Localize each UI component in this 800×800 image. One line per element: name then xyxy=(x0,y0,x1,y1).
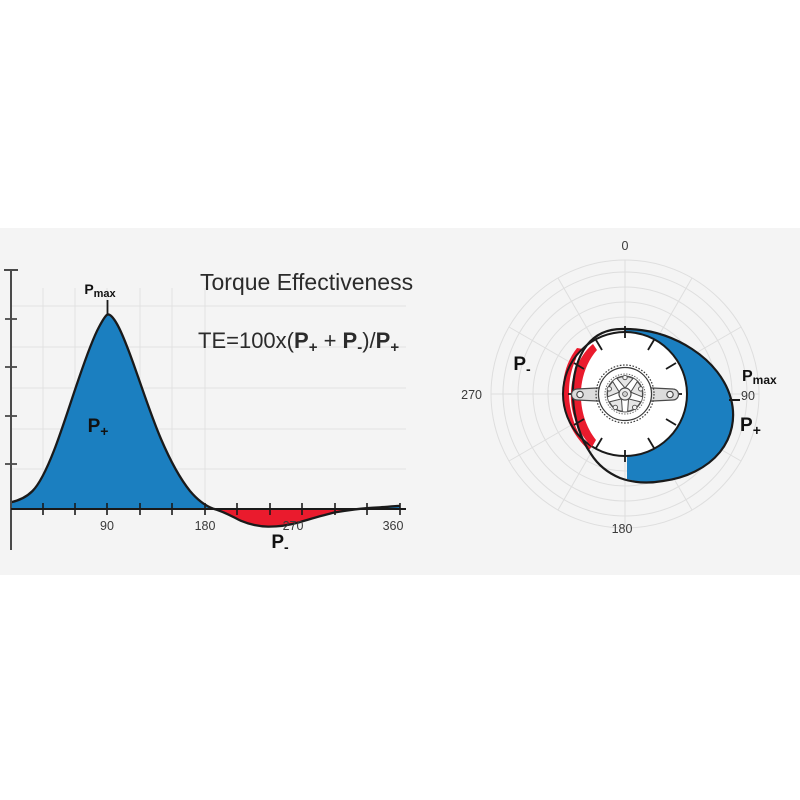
polar-tick-label-90: 90 xyxy=(741,389,755,403)
pmax-label-sub: max xyxy=(94,288,117,300)
x-tick-label-180: 180 xyxy=(195,519,216,533)
polar-negative-label: P- xyxy=(513,354,531,377)
figure-root: 90 180 270 360 Pmax P+ P- Torque Ef xyxy=(0,0,800,800)
negative-region-label-main: P xyxy=(271,532,284,553)
pmax-label-main: P xyxy=(84,281,93,297)
polar-tick-label-270: 270 xyxy=(461,388,482,402)
positive-region-label-main: P xyxy=(88,416,101,437)
formula-term-pos-2-sub: + xyxy=(390,339,399,356)
polar-positive-label: P+ xyxy=(740,415,761,438)
polar-tick-label-0: 0 xyxy=(622,239,629,253)
positive-region-label-sub: + xyxy=(100,423,108,439)
crank-spindle-center xyxy=(623,392,628,397)
polar-positive-label-sub: + xyxy=(753,422,761,438)
polar-chart-panel: 0 90 180 270 Pmax P+ P- xyxy=(450,228,800,575)
x-tick-label-270: 270 xyxy=(283,519,304,533)
negative-region-label-sub: - xyxy=(284,539,289,555)
negative-region-label: P- xyxy=(271,532,289,555)
polar-pmax-label-main: P xyxy=(742,368,753,385)
chart-formula: TE=100x(P+ + P-)/P+ xyxy=(198,328,399,356)
cartesian-chart-svg: 90 180 270 360 Pmax P+ P- Torque Ef xyxy=(0,228,440,575)
formula-term-pos-1: P xyxy=(294,328,309,353)
formula-term-pos-2: P xyxy=(376,328,391,353)
polar-chart-svg: 0 90 180 270 Pmax P+ P- xyxy=(450,228,800,575)
polar-negative-label-main: P xyxy=(513,354,526,375)
x-tick-label-90: 90 xyxy=(100,519,114,533)
formula-mid: )/ xyxy=(362,328,376,353)
polar-pmax-label: Pmax xyxy=(742,368,777,387)
pmax-label: Pmax xyxy=(84,281,116,300)
cartesian-chart-panel: 90 180 270 360 Pmax P+ P- Torque Ef xyxy=(0,228,440,575)
formula-prefix: TE=100x( xyxy=(198,328,295,353)
polar-pmax-label-sub: max xyxy=(753,373,777,387)
chart-title: Torque Effectiveness xyxy=(200,269,413,295)
x-tick-label-360: 360 xyxy=(383,519,404,533)
formula-term-neg: P xyxy=(343,328,358,353)
content-band: 90 180 270 360 Pmax P+ P- Torque Ef xyxy=(0,228,800,575)
polar-positive-label-main: P xyxy=(740,415,753,436)
polar-negative-label-sub: - xyxy=(526,361,531,377)
formula-term-pos-1-sub: + xyxy=(309,339,318,356)
formula-operator: + xyxy=(317,328,342,353)
polar-tick-label-180: 180 xyxy=(612,522,633,536)
